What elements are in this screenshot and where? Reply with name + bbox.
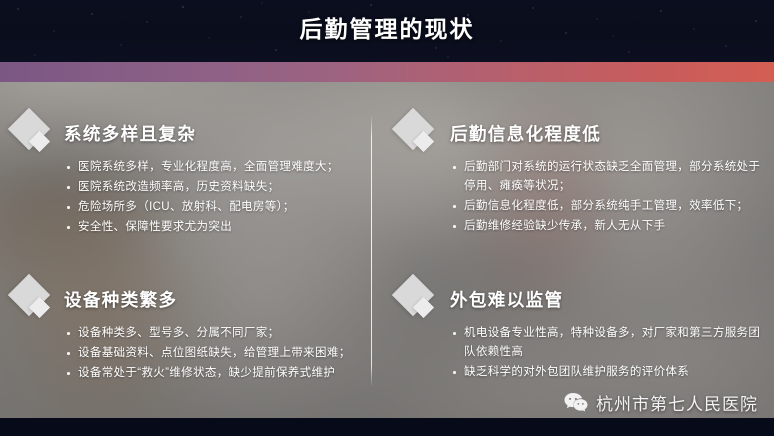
- quadrant-title: 系统多样且复杂: [64, 121, 196, 146]
- quadrant-bullet-list: 后勤部门对系统的运行状态缺乏全面管理，部分系统处于停用、瘫痪等状况； 后勤信息化…: [452, 158, 766, 236]
- quadrant-header: 外包难以监管: [392, 278, 766, 324]
- bullet-item: 缺乏科学的对外包团队维护服务的评价体系: [452, 363, 766, 382]
- quadrant-block: 系统多样且复杂 医院系统多样，专业化程度高，全面管理难度大； 医院系统改造频率高…: [8, 112, 368, 238]
- quadrant-bullet-list: 机电设备专业性高，特种设备多，对厂家和第三方服务团队依赖性高 缺乏科学的对外包团…: [452, 324, 766, 382]
- wechat-watermark: 杭州市第七人民医院: [564, 390, 758, 415]
- diamond-icon: [12, 280, 56, 324]
- quadrant-bullet-list: 设备种类多、型号多、分属不同厂家； 设备基础资料、点位图纸缺失，给管理上带来困难…: [66, 324, 368, 383]
- bullet-item: 医院系统改造频率高，历史资料缺失；: [66, 178, 368, 197]
- quadrant-block: 外包难以监管 机电设备专业性高，特种设备多，对厂家和第三方服务团队依赖性高 缺乏…: [392, 278, 766, 383]
- bullet-item: 危险场所多（ICU、放射科、配电房等）；: [66, 198, 368, 217]
- accent-gradient-bar: [0, 62, 774, 82]
- slide-title: 后勤管理的现状: [0, 0, 774, 62]
- bullet-item: 后勤信息化程度低，部分系统纯手工管理，效率低下；: [452, 197, 766, 216]
- quadrant-header: 系统多样且复杂: [8, 112, 368, 158]
- bullet-item: 设备基础资料、点位图纸缺失，给管理上带来困难；: [66, 344, 368, 363]
- bullet-item: 机电设备专业性高，特种设备多，对厂家和第三方服务团队依赖性高: [452, 324, 766, 362]
- bullet-item: 后勤部门对系统的运行状态缺乏全面管理，部分系统处于停用、瘫痪等状况；: [452, 158, 766, 196]
- quadrant-block: 后勤信息化程度低 后勤部门对系统的运行状态缺乏全面管理，部分系统处于停用、瘫痪等…: [392, 112, 766, 237]
- quadrant-title: 设备种类繁多: [64, 287, 177, 312]
- bullet-item: 医院系统多样，专业化程度高，全面管理难度大；: [66, 158, 368, 177]
- presentation-slide: 后勤管理的现状 系统多样且复杂 医院系统多样，专业化程度高，全面管理难度大； 医…: [0, 0, 774, 436]
- quadrant-grid: 系统多样且复杂 医院系统多样，专业化程度高，全面管理难度大； 医院系统改造频率高…: [0, 82, 774, 418]
- diamond-icon: [396, 114, 440, 158]
- bullet-item: 后勤维修经验缺少传承，新人无从下手: [452, 217, 766, 236]
- bullet-item: 设备常处于“救火”维修状态，缺少提前保养式维护: [66, 364, 368, 383]
- watermark-label: 杭州市第七人民医院: [596, 390, 758, 415]
- bullet-item: 安全性、保障性要求尤为突出: [66, 218, 368, 237]
- quadrant-title: 后勤信息化程度低: [450, 121, 601, 146]
- wechat-icon: [564, 392, 588, 413]
- diamond-icon: [12, 114, 56, 158]
- bottom-dark-strip: [0, 418, 774, 436]
- diamond-icon: [396, 280, 440, 324]
- slide-content-area: 系统多样且复杂 医院系统多样，专业化程度高，全面管理难度大； 医院系统改造频率高…: [0, 82, 774, 418]
- quadrant-header: 后勤信息化程度低: [392, 112, 766, 158]
- quadrant-block: 设备种类繁多 设备种类多、型号多、分属不同厂家； 设备基础资料、点位图纸缺失，给…: [8, 278, 368, 384]
- bullet-item: 设备种类多、型号多、分属不同厂家；: [66, 324, 368, 343]
- quadrant-title: 外包难以监管: [450, 287, 563, 312]
- quadrant-header: 设备种类繁多: [8, 278, 368, 324]
- quadrant-bullet-list: 医院系统多样，专业化程度高，全面管理难度大； 医院系统改造频率高，历史资料缺失；…: [66, 158, 368, 237]
